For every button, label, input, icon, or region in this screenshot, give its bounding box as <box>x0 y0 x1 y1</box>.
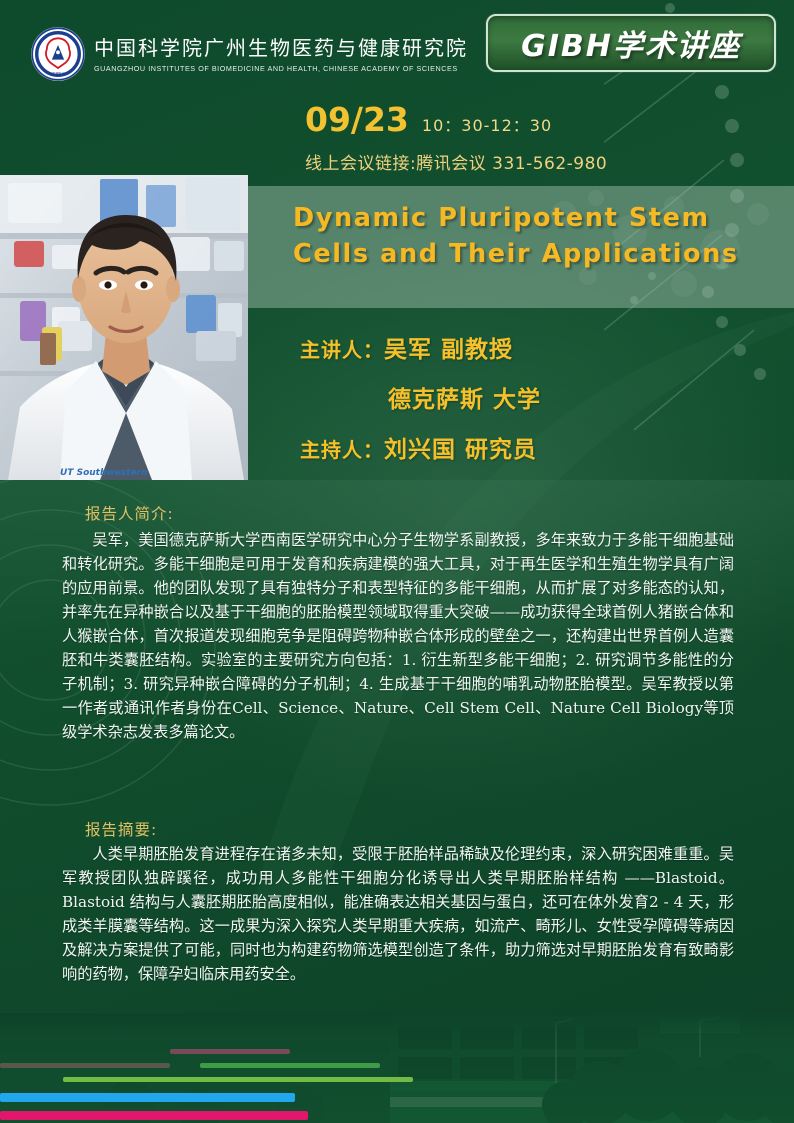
speaker-name: 吴军 副教授 <box>384 337 513 363</box>
speaker-label: 主讲人： <box>300 338 384 362</box>
lecture-date: 09/23 <box>305 100 409 139</box>
poster-root: GIBH 中国科学院广州生物医药与健康研究院 GUANGZHOU INSTITU… <box>0 0 794 1123</box>
speaker-affiliation: 德克萨斯 大学 <box>388 380 541 414</box>
speaker-portrait: UT Southwestern <box>0 175 248 480</box>
talk-title-band: Dynamic Pluripotent Stem Cells and Their… <box>248 186 794 308</box>
color-bar <box>170 1049 290 1054</box>
color-bar <box>200 1063 380 1068</box>
gibh-institute-seal-icon: GIBH <box>30 26 86 82</box>
bio-heading: 报告人简介: <box>85 502 174 524</box>
host-line: 主持人：刘兴国 研究员 <box>300 430 537 464</box>
svg-text:UT Southwestern: UT Southwestern <box>60 468 147 478</box>
meeting-link[interactable]: 线上会议链接:腾讯会议 331-562-980 <box>305 149 607 174</box>
speaker-info-block: 主讲人：吴军 副教授 德克萨斯 大学 主持人：刘兴国 研究员 <box>248 318 794 480</box>
lecture-series-badge-label: GIBH学术讲座 <box>521 21 741 65</box>
talk-title: Dynamic Pluripotent Stem Cells and Their… <box>293 200 763 272</box>
color-bar <box>0 1063 170 1068</box>
color-bars-decoration <box>0 1041 480 1113</box>
lecture-time: 10：30-12：30 <box>422 112 552 136</box>
speaker-portrait-photo: UT Southwestern <box>0 175 248 480</box>
host-label: 主持人： <box>300 438 384 462</box>
speaker-line: 主讲人：吴军 副教授 <box>300 330 513 364</box>
schedule-row: 09/23 10：30-12：30 <box>305 100 552 139</box>
institute-name-cn: 中国科学院广州生物医药与健康研究院 <box>94 36 468 61</box>
institute-logo: GIBH 中国科学院广州生物医药与健康研究院 GUANGZHOU INSTITU… <box>30 26 468 82</box>
poster-body: 报告人简介: 吴军，美国德克萨斯大学西南医学研究中心分子生物学系副教授，多年来致… <box>0 480 794 1040</box>
abstract-text: 人类早期胚胎发育进程存在诸多未知，受限于胚胎样品稀缺及伦理约束，深入研究困难重重… <box>62 842 734 986</box>
poster-header: GIBH 中国科学院广州生物医药与健康研究院 GUANGZHOU INSTITU… <box>0 0 794 90</box>
bio-text: 吴军，美国德克萨斯大学西南医学研究中心分子生物学系副教授，多年来致力于多能干细胞… <box>62 528 734 744</box>
host-name: 刘兴国 研究员 <box>384 437 537 463</box>
abstract-heading: 报告摘要: <box>85 818 157 840</box>
lecture-series-badge: GIBH学术讲座 <box>486 14 776 72</box>
color-bar <box>0 1111 308 1120</box>
color-bar <box>63 1077 413 1082</box>
svg-text:GIBH: GIBH <box>52 71 63 77</box>
institute-name-en: GUANGZHOU INSTITUTES OF BIOMEDICINE AND … <box>94 64 468 73</box>
color-bar <box>0 1093 295 1102</box>
